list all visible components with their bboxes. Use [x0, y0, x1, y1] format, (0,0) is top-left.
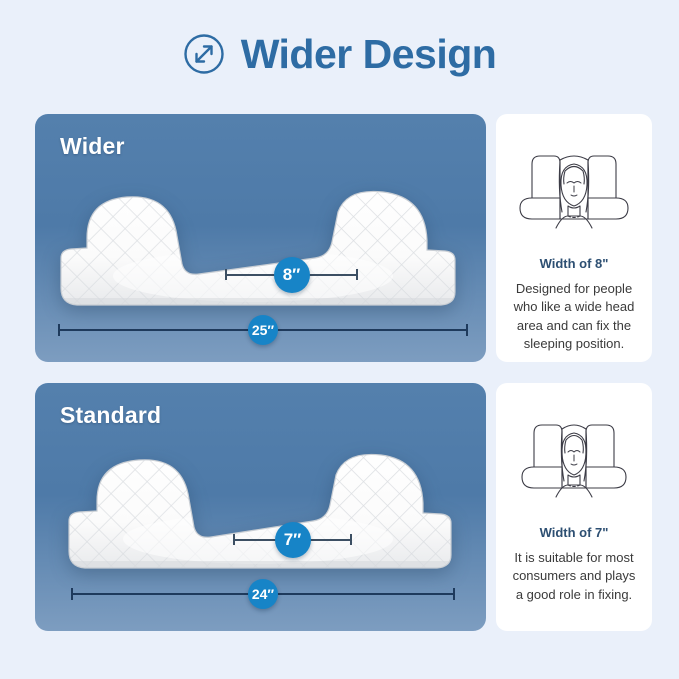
outer-length-dimension-wider: 25″: [58, 324, 468, 336]
outer-length-dimension-standard: 24″: [71, 588, 455, 600]
page-header: Wider Design: [0, 0, 679, 108]
card-heading-wider: Width of 8": [540, 256, 609, 271]
infographic-page: Wider Design Wider: [0, 0, 679, 679]
outer-length-badge-standard: 24″: [248, 579, 278, 609]
product-panel-wider: Wider: [35, 114, 486, 362]
pillow-illustration-wider: [35, 180, 486, 320]
outer-length-badge-wider: 25″: [248, 315, 278, 345]
inner-width-badge-wider: 8″: [274, 257, 310, 293]
comparison-row-standard: Standard: [35, 383, 645, 631]
inner-width-dimension-standard: 7″: [233, 534, 352, 545]
resize-diagonal-arrow-icon: [183, 33, 225, 75]
dimension-cap-right: [356, 269, 358, 280]
card-body-wider: Designed for people who like a wide head…: [510, 280, 638, 354]
dimension-cap-right: [350, 534, 352, 545]
product-panel-standard: Standard: [35, 383, 486, 631]
info-card-standard: Width of 7" It is suitable for most cons…: [496, 383, 652, 631]
panel-label-standard: Standard: [60, 402, 161, 429]
person-lying-on-pillow-standard-icon: [510, 409, 638, 501]
inner-width-dimension-wider: 8″: [225, 269, 358, 280]
info-card-wider: Width of 8" Designed for people who like…: [496, 114, 652, 362]
panel-label-wider: Wider: [60, 133, 125, 160]
dimension-cap-right: [453, 588, 455, 600]
person-lying-on-pillow-wide-icon: [510, 140, 638, 232]
page-title: Wider Design: [241, 34, 497, 75]
card-heading-standard: Width of 7": [540, 525, 609, 540]
inner-width-badge-standard: 7″: [275, 522, 311, 558]
dimension-cap-right: [466, 324, 468, 336]
comparison-row-wider: Wider: [35, 114, 645, 362]
pillow-illustration-standard: [35, 445, 486, 585]
card-body-standard: It is suitable for most consumers and pl…: [510, 549, 638, 604]
